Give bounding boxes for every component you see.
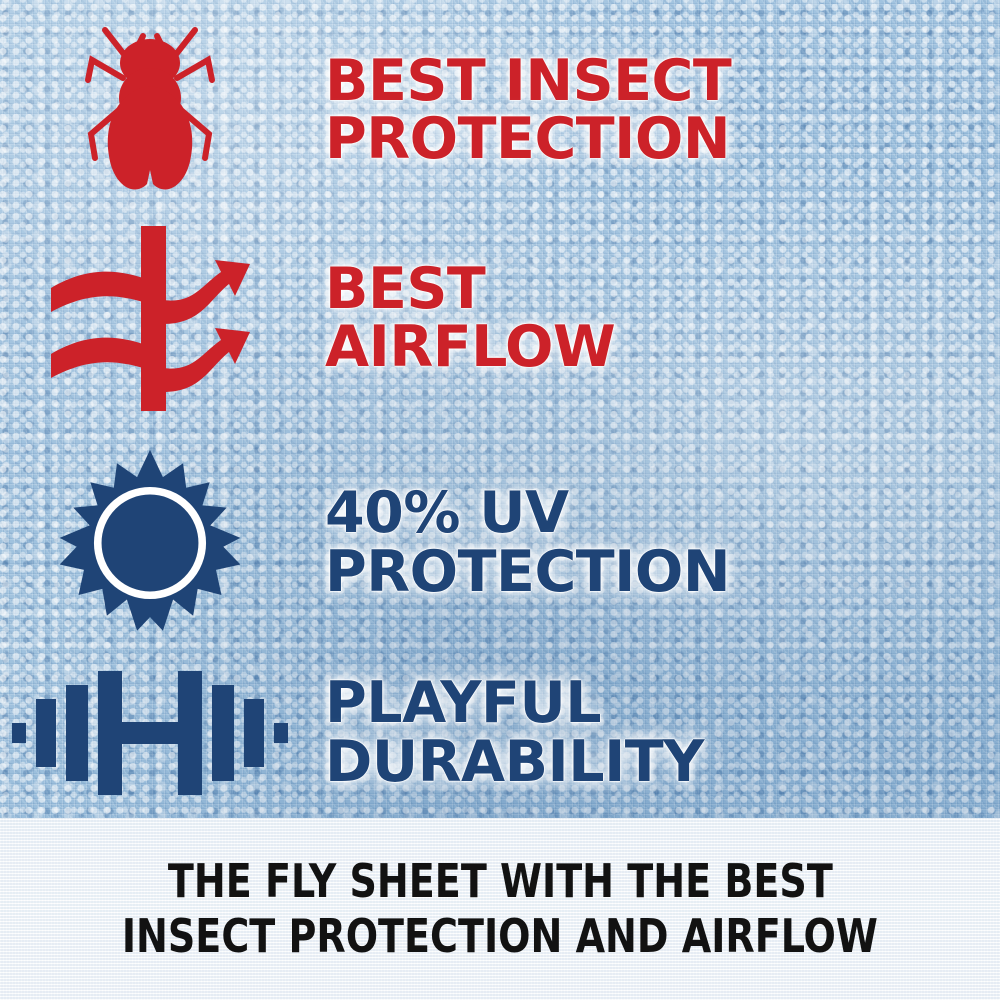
fly-icon — [75, 18, 225, 203]
headline-line-2: PROTECTION — [325, 110, 1000, 168]
icon-cell-uv — [0, 448, 300, 638]
feature-row-insect-protection: BEST INSECT PROTECTION — [0, 10, 1000, 210]
caption-line-1: THE FLY SHEET WITH THE BEST — [168, 854, 833, 909]
headline-insect-protection: BEST INSECT PROTECTION — [325, 52, 1000, 168]
headline-line-1: BEST — [325, 260, 1000, 318]
headline-line-2: PROTECTION — [325, 543, 1000, 601]
headline-line-1: BEST INSECT — [325, 52, 1000, 110]
infographic-root: BEST INSECT PROTECTION — [0, 0, 1000, 1000]
icon-cell-durability — [0, 663, 300, 803]
dumbbell-icon — [10, 663, 290, 803]
headline-line-2: DURABILITY — [325, 733, 1000, 791]
airflow-icon — [43, 226, 258, 411]
headline-line-2: AIRFLOW — [325, 318, 1000, 376]
feature-row-airflow: BEST AIRFLOW — [0, 218, 1000, 418]
caption-bar: THE FLY SHEET WITH THE BEST INSECT PROTE… — [0, 818, 1000, 1000]
icon-cell-insect — [0, 18, 300, 203]
headline-uv-protection: 40% UV PROTECTION — [325, 484, 1000, 600]
headline-line-1: 40% UV — [325, 484, 1000, 542]
text-cell-insect: BEST INSECT PROTECTION — [300, 52, 1000, 168]
text-cell-durability: PLAYFUL DURABILITY — [300, 674, 1000, 790]
feature-row-uv-protection: 40% UV PROTECTION — [0, 440, 1000, 645]
caption-line-2: INSECT PROTECTION AND AIRFLOW — [122, 909, 878, 964]
headline-durability: PLAYFUL DURABILITY — [325, 674, 1000, 790]
sun-uv-icon — [52, 448, 248, 638]
feature-row-durability: PLAYFUL DURABILITY — [0, 645, 1000, 820]
icon-cell-airflow — [0, 226, 300, 411]
headline-airflow: BEST AIRFLOW — [325, 260, 1000, 376]
headline-line-1: PLAYFUL — [325, 674, 1000, 732]
text-cell-airflow: BEST AIRFLOW — [300, 260, 1000, 376]
text-cell-uv: 40% UV PROTECTION — [300, 484, 1000, 600]
